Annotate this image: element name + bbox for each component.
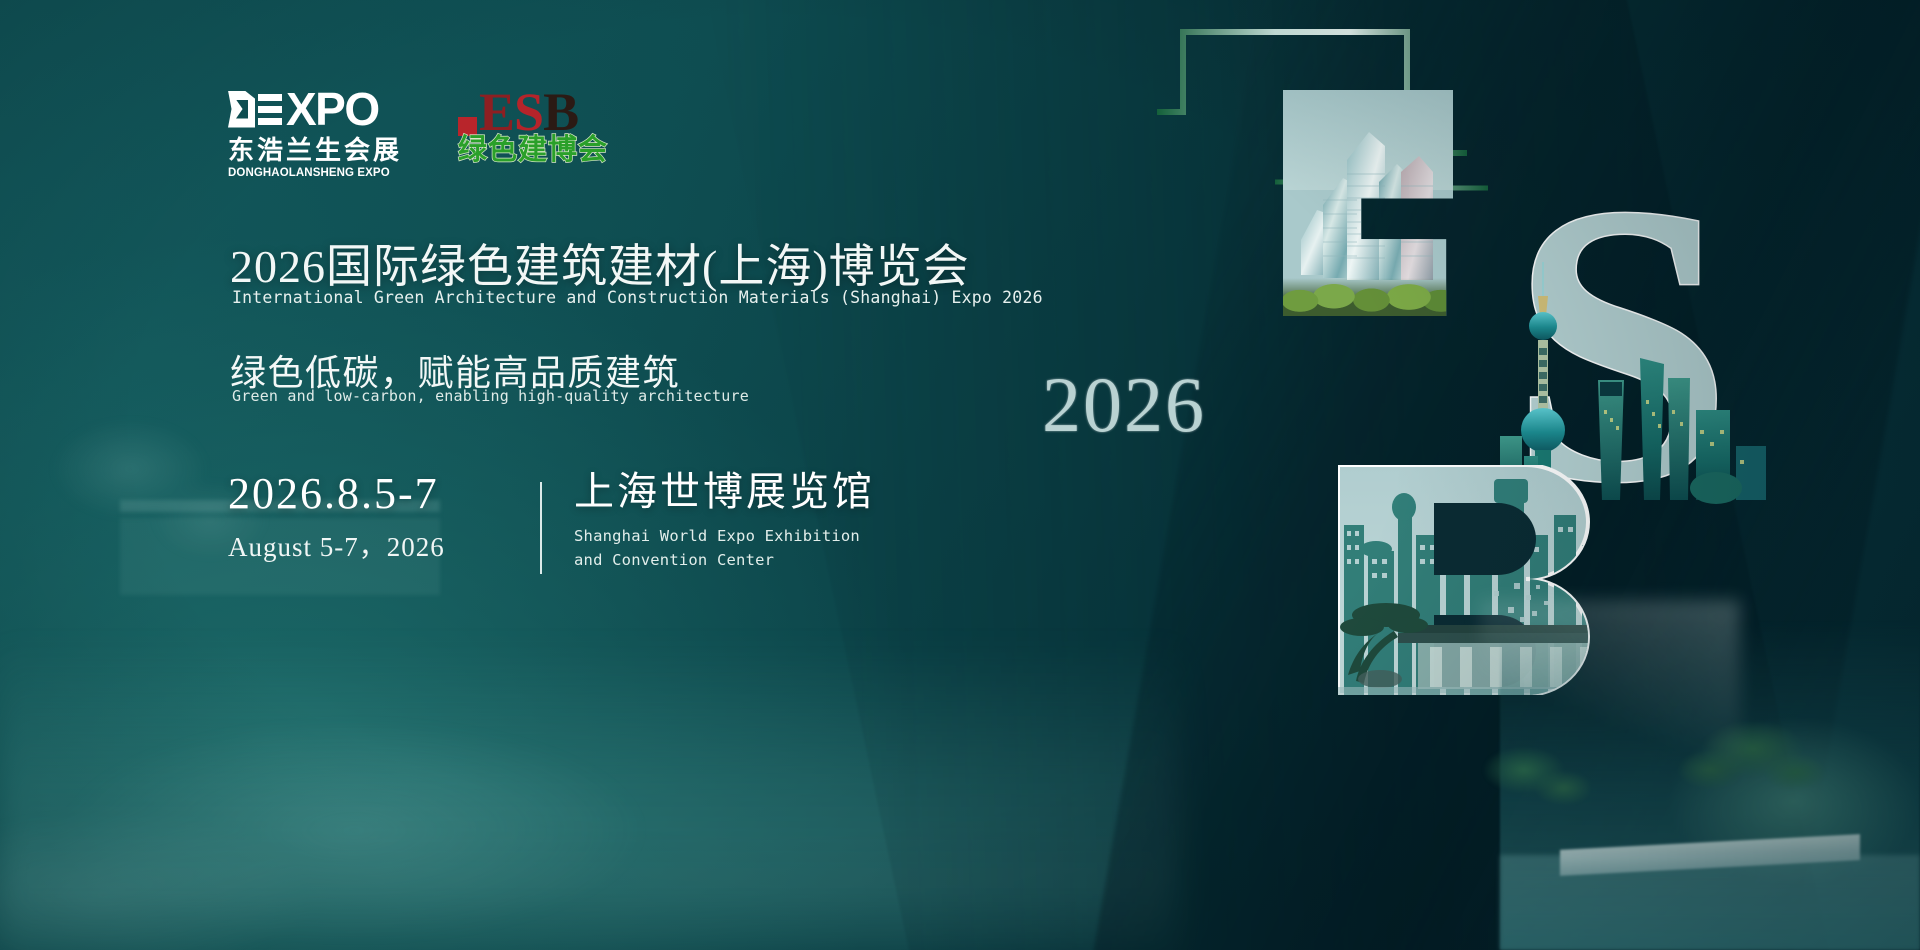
venue-name-chinese: 上海世博展览馆 bbox=[574, 470, 875, 514]
letter-e-graphic bbox=[1283, 90, 1453, 316]
event-venue-block: 上海世博展览馆 Shanghai World Expo Exhibition a… bbox=[574, 468, 875, 572]
artwork-panel: S bbox=[1120, 0, 1920, 950]
venue-name-english: Shanghai World Expo Exhibition and Conve… bbox=[574, 524, 875, 572]
slogan-english: Green and low-carbon, enabling high-qual… bbox=[232, 387, 749, 405]
vertical-divider bbox=[540, 482, 542, 574]
dexpo-chinese-name: 东浩兰生会展 bbox=[228, 137, 408, 164]
letter-s-glyph: S bbox=[1510, 200, 1780, 500]
page-title-chinese: 2026国际绿色建筑建材(上海)博览会 bbox=[230, 230, 970, 296]
esb-wordmark: E S B bbox=[458, 88, 608, 138]
letter-s-graphic: S bbox=[1510, 200, 1780, 500]
landscape-light-ray bbox=[1480, 600, 1740, 820]
dexpo-e-glyph bbox=[258, 94, 282, 125]
event-date-english: August 5-7，2026 bbox=[228, 525, 528, 564]
event-info-block: 2026.8.5-7 August 5-7，2026 上海世博展览馆 Shang… bbox=[228, 468, 875, 574]
esb-letter-s: S bbox=[514, 88, 543, 138]
page-title-english: International Green Architecture and Con… bbox=[232, 288, 1043, 307]
esb-red-dot-icon bbox=[458, 117, 477, 136]
esb-letter-b: B bbox=[543, 88, 578, 138]
dexpo-logo[interactable]: XPO 东浩兰生会展 DONGHAOLANSHENG EXPO bbox=[228, 86, 408, 179]
venue-english-line2: and Convention Center bbox=[574, 548, 875, 572]
landscape-scene bbox=[1500, 620, 1920, 950]
expo-banner: S bbox=[0, 0, 1920, 950]
logo-row: XPO 东浩兰生会展 DONGHAOLANSHENG EXPO E S B 绿色… bbox=[228, 86, 608, 179]
esb-chinese-name: 绿色建博会 bbox=[458, 135, 608, 165]
event-date-chinese: 2026.8.5-7 bbox=[228, 472, 528, 517]
esb-letter-e: E bbox=[479, 88, 514, 138]
dexpo-wordmark: XPO bbox=[228, 86, 408, 132]
dexpo-xpo-text: XPO bbox=[286, 86, 379, 132]
dexpo-english-name: DONGHAOLANSHENG EXPO bbox=[228, 167, 408, 179]
content-column: XPO 东浩兰生会展 DONGHAOLANSHENG EXPO E S B 绿色… bbox=[228, 0, 1188, 950]
event-date-block: 2026.8.5-7 August 5-7，2026 bbox=[228, 468, 528, 564]
letter-e-building-photo bbox=[1283, 90, 1453, 316]
dexpo-d-glyph bbox=[228, 91, 255, 128]
esb-logo[interactable]: E S B 绿色建博会 bbox=[458, 86, 608, 165]
venue-english-line1: Shanghai World Expo Exhibition bbox=[574, 524, 875, 548]
